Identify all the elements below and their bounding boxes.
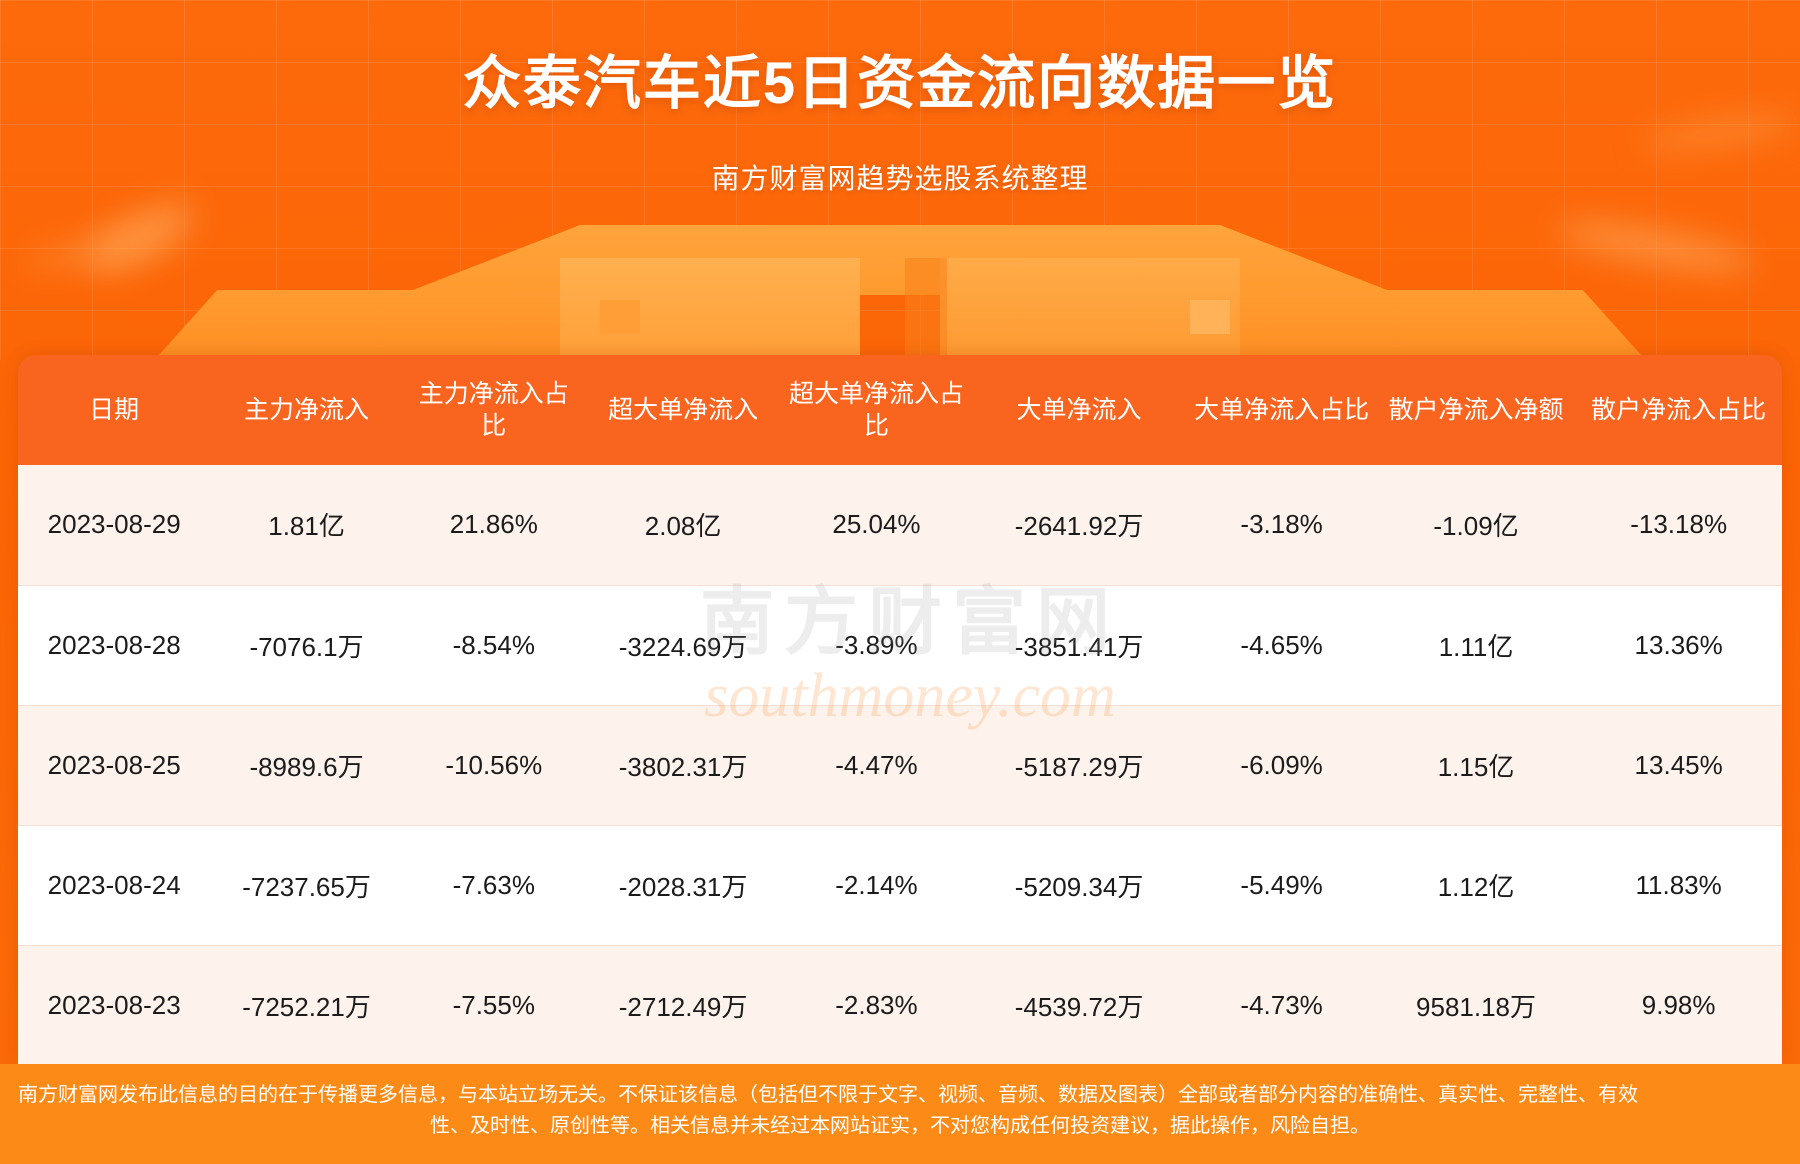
cell-retail-net: 1.11亿 <box>1377 585 1576 705</box>
cell-large-net: -2641.92万 <box>972 465 1187 585</box>
cell-main-pct: -7.63% <box>403 825 585 945</box>
cell-large-pct: -3.18% <box>1186 465 1376 585</box>
cell-retail-pct: -13.18% <box>1575 465 1782 585</box>
disclaimer-footer: 南方财富网发布此信息的目的在于传播更多信息，与本站立场无关。不保证该信息（包括但… <box>0 1064 1800 1164</box>
cell-date: 2023-08-24 <box>18 825 210 945</box>
column-header-super-net: 超大单净流入 <box>585 355 781 465</box>
cell-super-net: -2712.49万 <box>585 945 781 1065</box>
cell-large-pct: -5.49% <box>1186 825 1376 945</box>
cell-large-pct: -4.65% <box>1186 585 1376 705</box>
cell-large-net: -5209.34万 <box>972 825 1187 945</box>
cell-main-net: -7237.65万 <box>210 825 402 945</box>
cell-retail-net: 1.15亿 <box>1377 705 1576 825</box>
page-subtitle: 南方财富网趋势选股系统整理 <box>0 157 1800 197</box>
disclaimer-line-2: 性、及时性、原创性等。相关信息并未经过本网站证实，不对您构成任何投资建议，据此操… <box>18 1111 1782 1142</box>
table-row: 2023-08-23 -7252.21万 -7.55% -2712.49万 -2… <box>18 945 1782 1065</box>
cell-main-net: -8989.6万 <box>210 705 402 825</box>
column-header-date: 日期 <box>18 355 210 465</box>
cell-super-net: -3224.69万 <box>585 585 781 705</box>
cell-date: 2023-08-25 <box>18 705 210 825</box>
cell-large-net: -4539.72万 <box>972 945 1187 1065</box>
column-header-large-net: 大单净流入 <box>972 355 1187 465</box>
cell-main-net: -7076.1万 <box>210 585 402 705</box>
column-header-retail-net: 散户净流入净额 <box>1377 355 1576 465</box>
column-header-retail-pct: 散户净流入占比 <box>1575 355 1782 465</box>
table-row: 2023-08-28 -7076.1万 -8.54% -3224.69万 -3.… <box>18 585 1782 705</box>
table-row: 2023-08-24 -7237.65万 -7.63% -2028.31万 -2… <box>18 825 1782 945</box>
cell-super-pct: -2.14% <box>781 825 971 945</box>
cell-super-pct: 25.04% <box>781 465 971 585</box>
fund-flow-table-card: 日期 主力净流入 主力净流入占比 超大单净流入 超大单净流入占比 大单净流入 大… <box>18 355 1782 1065</box>
table-row: 2023-08-29 1.81亿 21.86% 2.08亿 25.04% -26… <box>18 465 1782 585</box>
cell-date: 2023-08-28 <box>18 585 210 705</box>
cell-retail-net: -1.09亿 <box>1377 465 1576 585</box>
fund-flow-table: 日期 主力净流入 主力净流入占比 超大单净流入 超大单净流入占比 大单净流入 大… <box>18 355 1782 1065</box>
cell-retail-net: 9581.18万 <box>1377 945 1576 1065</box>
table-header-row: 日期 主力净流入 主力净流入占比 超大单净流入 超大单净流入占比 大单净流入 大… <box>18 355 1782 465</box>
cell-retail-pct: 11.83% <box>1575 825 1782 945</box>
cell-main-net: 1.81亿 <box>210 465 402 585</box>
table-row: 2023-08-25 -8989.6万 -10.56% -3802.31万 -4… <box>18 705 1782 825</box>
cell-main-pct: -7.55% <box>403 945 585 1065</box>
column-header-main-net: 主力净流入 <box>210 355 402 465</box>
cell-large-net: -5187.29万 <box>972 705 1187 825</box>
column-header-super-pct: 超大单净流入占比 <box>781 355 971 465</box>
cell-main-pct: -10.56% <box>403 705 585 825</box>
cell-super-net: -2028.31万 <box>585 825 781 945</box>
cell-large-pct: -6.09% <box>1186 705 1376 825</box>
infographic-page: 众泰汽车近5日资金流向数据一览 南方财富网趋势选股系统整理 南方财富网 sout… <box>0 0 1800 1164</box>
cell-large-net: -3851.41万 <box>972 585 1187 705</box>
cell-super-pct: -3.89% <box>781 585 971 705</box>
disclaimer-line-1: 南方财富网发布此信息的目的在于传播更多信息，与本站立场无关。不保证该信息（包括但… <box>18 1080 1782 1111</box>
cell-main-pct: -8.54% <box>403 585 585 705</box>
cell-retail-pct: 13.36% <box>1575 585 1782 705</box>
column-header-large-pct: 大单净流入占比 <box>1186 355 1376 465</box>
cell-retail-net: 1.12亿 <box>1377 825 1576 945</box>
column-header-main-pct: 主力净流入占比 <box>403 355 585 465</box>
cell-main-net: -7252.21万 <box>210 945 402 1065</box>
cell-date: 2023-08-23 <box>18 945 210 1065</box>
cell-retail-pct: 9.98% <box>1575 945 1782 1065</box>
cell-main-pct: 21.86% <box>403 465 585 585</box>
cell-super-pct: -2.83% <box>781 945 971 1065</box>
cell-retail-pct: 13.45% <box>1575 705 1782 825</box>
cell-super-pct: -4.47% <box>781 705 971 825</box>
cell-date: 2023-08-29 <box>18 465 210 585</box>
cell-super-net: 2.08亿 <box>585 465 781 585</box>
hero-banner: 众泰汽车近5日资金流向数据一览 南方财富网趋势选股系统整理 <box>0 0 1800 350</box>
cell-super-net: -3802.31万 <box>585 705 781 825</box>
page-title: 众泰汽车近5日资金流向数据一览 <box>0 0 1800 121</box>
cell-large-pct: -4.73% <box>1186 945 1376 1065</box>
